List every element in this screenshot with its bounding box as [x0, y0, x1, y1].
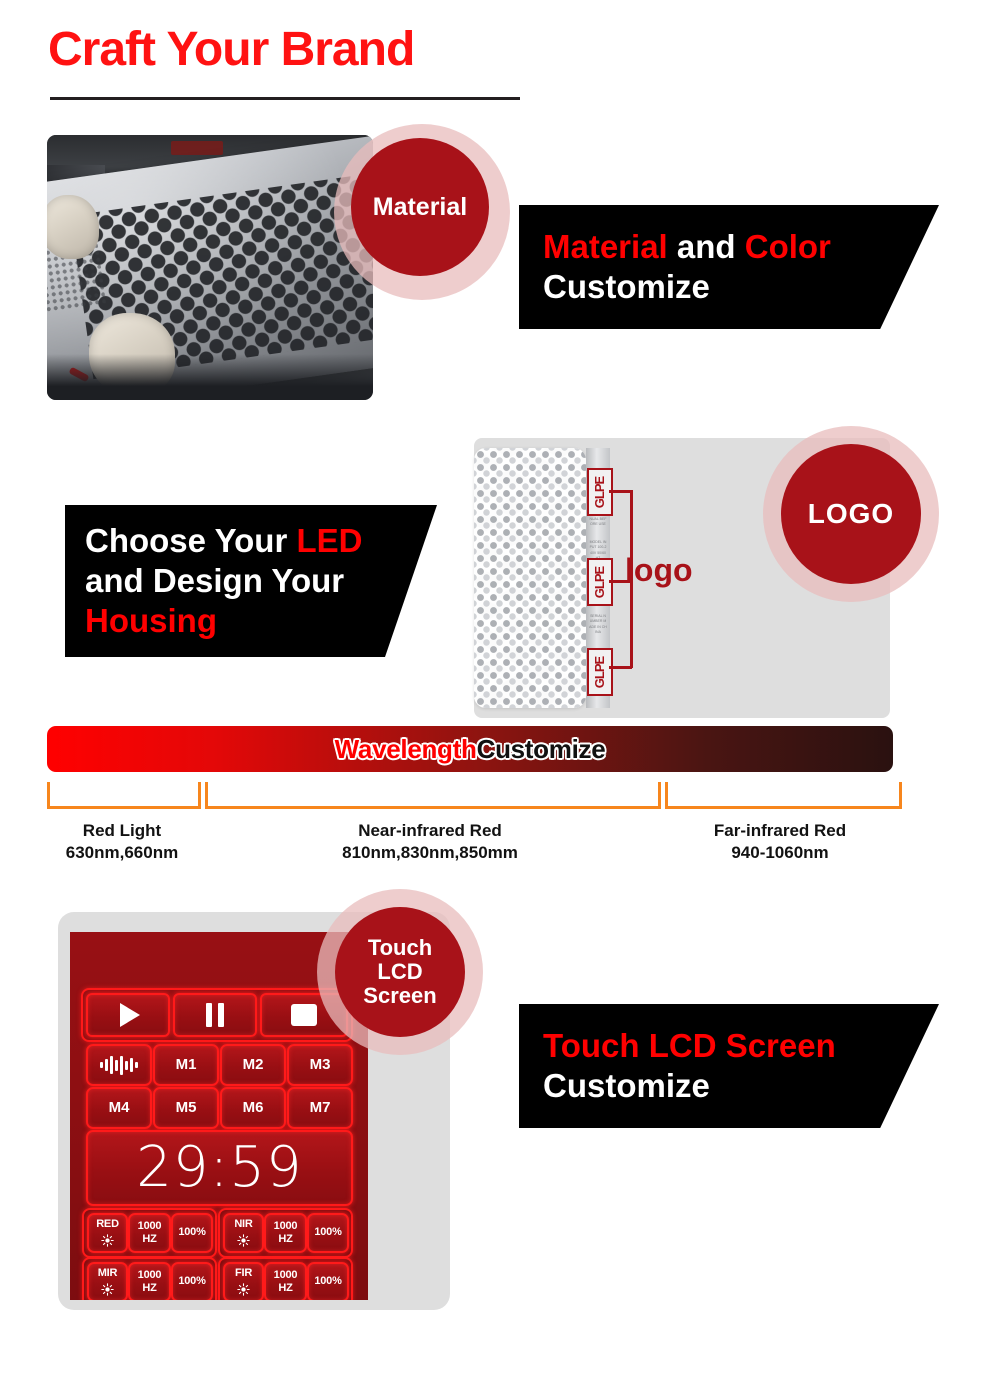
banner-line: Choose Your LED — [85, 521, 465, 561]
channel-name: NIR — [234, 1219, 252, 1231]
logo-mark-text: GLPE — [593, 656, 608, 687]
wavelength-values: 630nm,660nm — [27, 842, 217, 864]
page-title: Craft Your Brand — [48, 26, 414, 74]
waveform-icon — [100, 1055, 138, 1075]
banner-line: and Design Your — [85, 561, 465, 601]
memory-button-m6[interactable]: M6 — [220, 1087, 286, 1129]
banner-line: Touch LCD Screen — [543, 1026, 939, 1066]
wavelength-title-red: Wavelength — [335, 734, 477, 764]
material-photo — [47, 135, 373, 400]
wavelength-bracket-nir — [205, 782, 661, 809]
brightness-icon — [237, 1234, 250, 1247]
logo-mark-text: GLPE — [593, 476, 608, 507]
channel-fir-power[interactable]: 100% — [307, 1262, 349, 1300]
memory-button-m1[interactable]: M1 — [153, 1044, 219, 1086]
led-perforated-sheet — [474, 448, 586, 708]
logo-callout-arm — [609, 490, 632, 493]
channel-name: MIR — [98, 1268, 118, 1280]
wavelength-name: Near-infrared Red — [300, 820, 560, 842]
banner-led-housing: Choose Your LED and Design Your Housing — [65, 505, 465, 657]
banner-line: Material and Color — [543, 227, 939, 267]
strip-fineprint: SERIAL NUMBER MADE IN CHINA — [589, 614, 607, 635]
brightness-icon — [101, 1283, 114, 1296]
channel-red-label[interactable]: RED — [87, 1213, 128, 1253]
channel-nir-frequency[interactable]: 1000 HZ — [264, 1213, 307, 1253]
wavelength-bracket-red — [47, 782, 201, 809]
wavelength-title: WavelengthCustomize — [335, 734, 606, 765]
wavelength-label-fir: Far-infrared Red 940-1060nm — [655, 820, 905, 864]
logo-badge: LOGO — [781, 444, 921, 584]
channel-nir-label[interactable]: NIR — [223, 1213, 264, 1253]
frequency-value: 1000 — [274, 1221, 298, 1233]
touch-lcd-badge: Touch LCD Screen — [335, 907, 465, 1037]
channel-name: FIR — [235, 1268, 252, 1280]
wavelength-name: Far-infrared Red — [655, 820, 905, 842]
banner-line: Customize — [543, 1066, 939, 1106]
frequency-value: 1000 — [138, 1270, 162, 1282]
wavelength-name: Red Light — [27, 820, 217, 842]
title-divider — [50, 97, 520, 100]
wavelength-title-black: Customize — [477, 734, 606, 764]
wavelength-label-nir: Near-infrared Red 810nm,830nm,850mm — [300, 820, 560, 864]
channel-red-frequency[interactable]: 1000 HZ — [128, 1213, 171, 1253]
play-button[interactable] — [86, 993, 170, 1037]
pause-icon — [206, 1003, 224, 1027]
memory-button-m4[interactable]: M4 — [86, 1087, 152, 1129]
banner-word: and — [668, 228, 745, 265]
wavelength-bracket-fir — [665, 782, 902, 809]
channel-red-power[interactable]: 100% — [171, 1213, 213, 1253]
logo-mark-text: GLPE — [593, 566, 608, 597]
brightness-icon — [237, 1283, 250, 1296]
wavelength-values: 810nm,830nm,850mm — [300, 842, 560, 864]
frequency-value: 1000 — [274, 1270, 298, 1282]
wavelength-bar: WavelengthCustomize — [47, 726, 893, 772]
material-badge: Material — [351, 138, 489, 276]
channel-mir-frequency[interactable]: 1000 HZ — [128, 1262, 171, 1300]
banner-word: Choose Your — [85, 522, 296, 559]
wavelength-values: 940-1060nm — [655, 842, 905, 864]
banner-word: Color — [745, 228, 831, 265]
banner-material-color: Material and Color Customize — [519, 205, 939, 329]
worker-glove — [47, 195, 99, 259]
logo-mark: GLPE — [587, 648, 613, 696]
banner-touch-lcd: Touch LCD Screen Customize — [519, 1004, 939, 1128]
channel-nir-power[interactable]: 100% — [307, 1213, 349, 1253]
frequency-unit: HZ — [142, 1283, 156, 1295]
frequency-unit: HZ — [278, 1283, 292, 1295]
waveform-button[interactable] — [86, 1044, 152, 1086]
channel-name: RED — [96, 1219, 119, 1231]
banner-line: Housing — [85, 601, 465, 641]
photo-bottom-shadow — [47, 354, 373, 400]
banner-line: Customize — [543, 267, 939, 307]
channel-fir-label[interactable]: FIR — [223, 1262, 264, 1300]
channel-mir-power[interactable]: 100% — [171, 1262, 213, 1300]
wavelength-label-red: Red Light 630nm,660nm — [27, 820, 217, 864]
memory-button-m5[interactable]: M5 — [153, 1087, 219, 1129]
memory-button-m3[interactable]: M3 — [287, 1044, 353, 1086]
timer-display[interactable]: 29:59 — [86, 1130, 353, 1206]
stop-icon — [291, 1004, 317, 1026]
frequency-value: 1000 — [138, 1221, 162, 1233]
play-icon — [120, 1003, 140, 1027]
frequency-unit: HZ — [278, 1234, 292, 1246]
banner-word: Material — [543, 228, 668, 265]
memory-button-m7[interactable]: M7 — [287, 1087, 353, 1129]
logo-callout-label: logo — [625, 552, 693, 589]
brightness-icon — [101, 1234, 114, 1247]
channel-mir-label[interactable]: MIR — [87, 1262, 128, 1300]
logo-callout-arm — [609, 666, 632, 669]
channel-fir-frequency[interactable]: 1000 HZ — [264, 1262, 307, 1300]
memory-button-m2[interactable]: M2 — [220, 1044, 286, 1086]
led-dots — [474, 448, 586, 708]
pause-button[interactable] — [173, 993, 257, 1037]
banner-word: LED — [296, 522, 362, 559]
frequency-unit: HZ — [142, 1234, 156, 1246]
